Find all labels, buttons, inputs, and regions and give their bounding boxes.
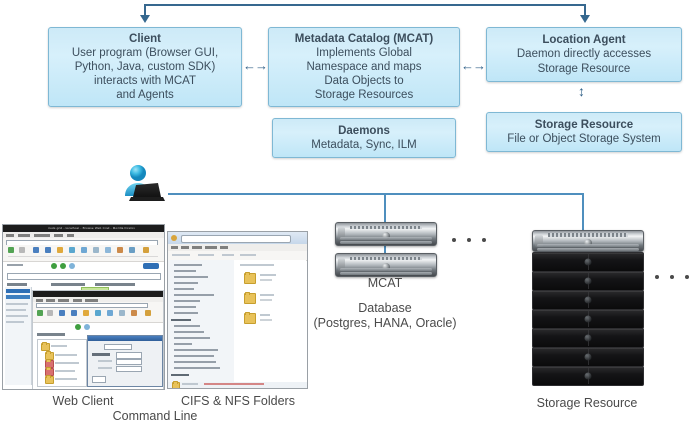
mcat-server-node-2 [335,253,437,277]
thumb-web-action-icon [69,263,75,269]
rack-unit [532,252,644,272]
thumb-fs-details-pane [168,382,307,389]
thumb-web-label [7,264,23,266]
box-location-agent-line-2: Storage Resource [538,62,631,76]
thumbnail-cifs-nfs-folders[interactable] [167,231,308,389]
caption-database-engines: (Postgres, HANA, Oracle) [303,316,467,330]
mcat-ellipsis-dots [452,238,486,242]
thumb-web-search-field [7,273,161,280]
arrow-location-agent-storage-icon: ↕ [578,84,585,98]
box-mcat-title: Metadata Catalog (MCAT) [295,32,433,46]
box-client-line-3: interacts with MCAT [94,74,196,88]
box-mcat-line-2: Namespace and maps [306,60,421,74]
thumb-web-inner-window [32,290,164,390]
thumb-web-col-header [95,283,135,286]
arrow-client-mcat-icon: ←→ [243,58,267,73]
rack-head-server [532,230,644,252]
diagram-canvas: Client User program (Browser GUI, Python… [0,0,700,430]
thumb-web-col-header [51,283,85,286]
thumb-web-sidebar [5,287,32,385]
rack-unit [532,290,644,310]
box-storage-resource-title: Storage Resource [535,118,633,132]
box-mcat-line-3: Data Objects to [324,74,403,88]
user-avatar-icon [120,163,172,207]
box-storage-resource-line-1: File or Object Storage System [507,132,660,146]
box-daemons[interactable]: Daemons Metadata, Sync, ILM [272,118,456,158]
thumb-web-titlebar: irods grid - localhost - Browse Web Cmd … [3,225,164,232]
thumb-fs-navigation-pane [168,260,235,382]
arrow-mcat-location-agent-icon: ←→ [461,58,485,73]
rack-unit [532,271,644,291]
caption-storage-resource: Storage Resource [512,396,662,410]
thumbnail-web-client[interactable]: irods grid - localhost - Browse Web Cmd … [2,224,165,390]
caption-cifs-nfs-folders: CIFS & NFS Folders [168,394,308,408]
connector-drop-to-storage-rack [582,193,584,231]
thumb-web-toolbar [3,245,164,262]
thumb-web-primary-button [143,263,159,269]
box-client-line-2: Python, Java, custom SDK) [75,60,216,74]
storage-rack-ellipsis-dots [655,275,689,279]
box-location-agent-title: Location Agent [542,33,625,47]
thumb-web-modal-dialog [87,335,163,387]
thumb-web-col-header [7,283,27,286]
mcat-server-node-1 [335,222,437,246]
box-mcat-line-1: Implements Global [316,46,412,60]
box-metadata-catalog[interactable]: Metadata Catalog (MCAT) Implements Globa… [268,27,460,107]
box-storage-resource[interactable]: Storage Resource File or Object Storage … [486,112,682,152]
box-daemons-line-1: Metadata, Sync, ILM [311,138,416,152]
caption-web-client: Web Client [20,394,146,408]
box-location-agent-line-1: Daemon directly accesses [517,47,651,61]
caption-database: Database [335,301,435,315]
rack-unit [532,328,644,348]
storage-rack [532,230,642,388]
arrow-down-to-client [140,15,150,23]
box-client-line-4: and Agents [116,88,174,102]
box-client-line-1: User program (Browser GUI, [72,46,218,60]
box-client-title: Client [129,32,161,46]
connector-top-bracket-horizontal [144,4,586,6]
thumb-web-action-icon [51,263,57,269]
thumb-fs-content-pane [234,260,306,382]
box-mcat-line-4: Storage Resources [315,88,413,102]
rack-unit [532,347,644,367]
box-client[interactable]: Client User program (Browser GUI, Python… [48,27,242,107]
rack-unit [532,309,644,329]
arrow-down-to-location-agent [580,15,590,23]
box-daemons-title: Daemons [338,124,390,138]
rack-unit [532,366,644,386]
caption-mcat-node: MCAT [335,276,435,290]
box-location-agent[interactable]: Location Agent Daemon directly accesses … [486,27,682,82]
caption-command-line: Command Line [95,409,215,423]
connector-user-to-nodes [168,193,584,195]
thumb-web-action-icon [60,263,66,269]
